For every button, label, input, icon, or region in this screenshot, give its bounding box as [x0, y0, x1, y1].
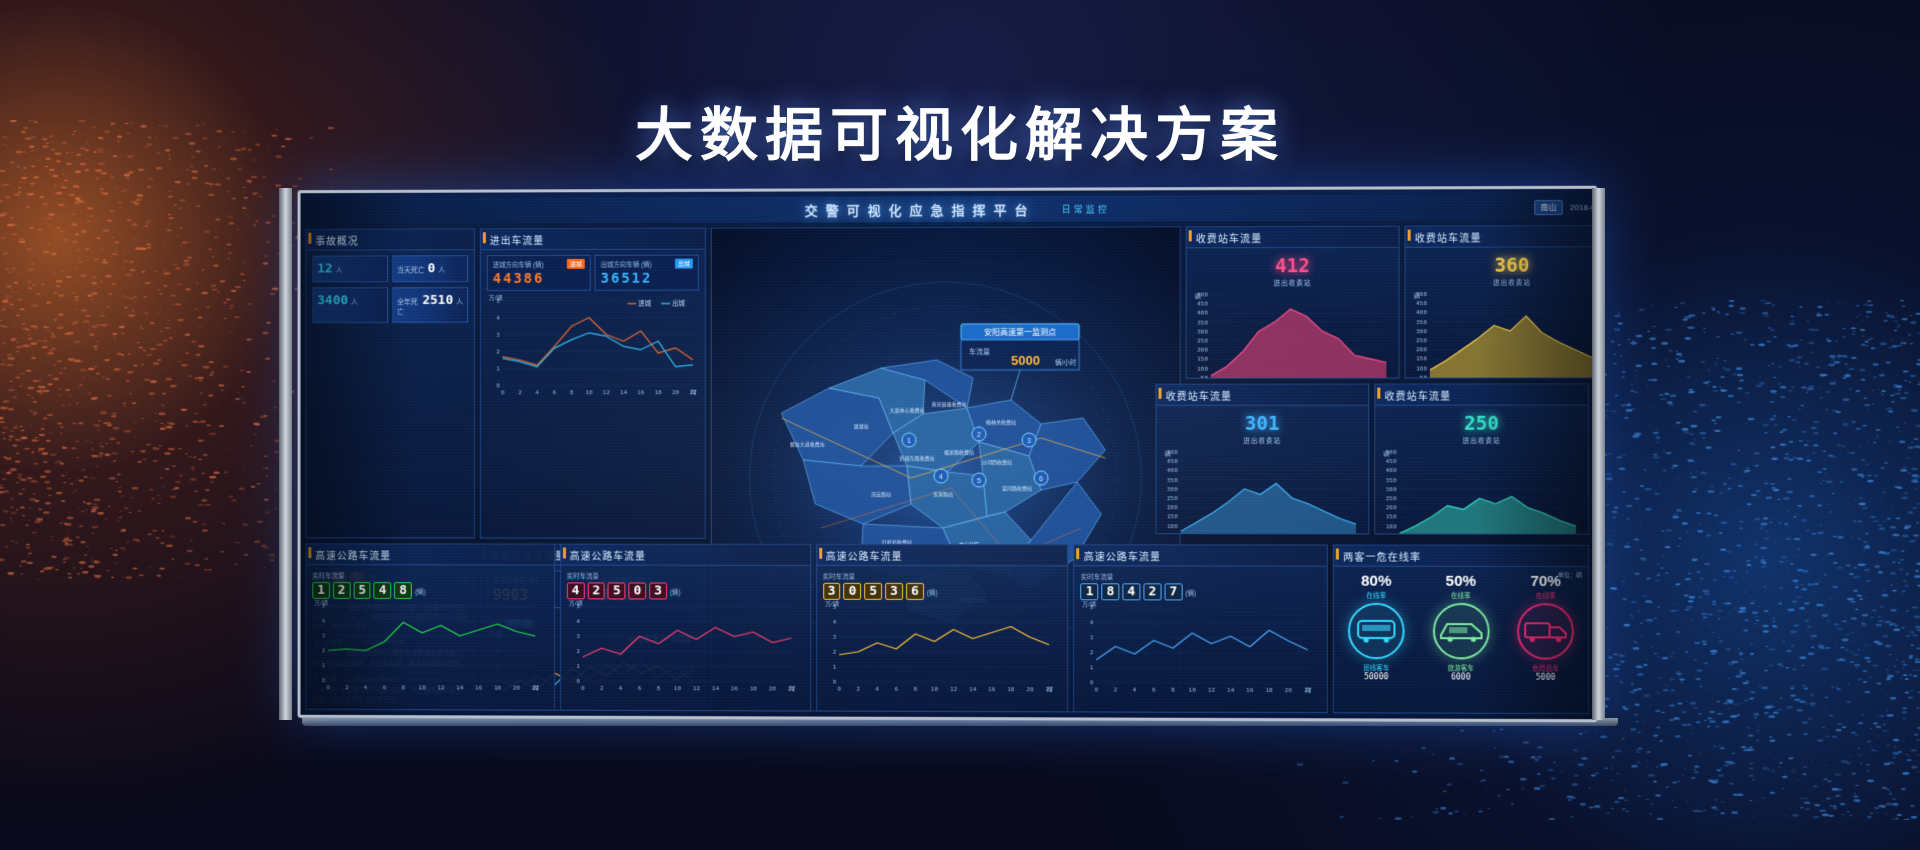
svg-text:4: 4 [496, 315, 500, 322]
svg-text:50: 50 [1201, 375, 1209, 379]
map-label: 南光高速收费站 [932, 401, 967, 408]
inout-kpi-label: 进城方向车辆 (辆) [493, 259, 544, 269]
svg-text:10: 10 [585, 389, 593, 396]
toll-value-2: 360 [1495, 255, 1530, 277]
svg-text:0: 0 [326, 684, 330, 691]
svg-text:进城: 进城 [638, 300, 651, 308]
accident-stat-list: 12 人 当天死亡 0 人 3400 人 全年死亡 2510 人 [306, 250, 474, 333]
accident-stat-row: 3400 人 全年死亡 2510 人 [312, 287, 468, 323]
panel-inout-flow: 进出车流量 进城方向车辆 (辆) 进城 44386出城方向车辆 (辆) 出城 3… [480, 228, 706, 539]
online-rate-qty-2: 6000 [1433, 672, 1490, 681]
panel-highway-flow-3: 高速公路车流量 实时车流量 30536 (辆) 012345万/辆0246810… [816, 544, 1069, 713]
svg-text:1: 1 [496, 365, 500, 372]
svg-text:350: 350 [1416, 319, 1427, 326]
map-callout-title: 安阳高速第一监测点 [984, 327, 1056, 337]
svg-text:50: 50 [1170, 532, 1178, 534]
highway-flow-digit: 3 [649, 583, 667, 600]
inout-kpi: 出城方向车辆 (辆) 出城 36512 [595, 255, 699, 291]
svg-text:2: 2 [518, 389, 522, 396]
highway-flow-digit: 2 [1143, 583, 1161, 600]
platform-title: 交警可视化应急指挥平台 [805, 199, 1036, 219]
svg-text:0: 0 [322, 677, 326, 684]
svg-text:万/辆: 万/辆 [569, 600, 583, 607]
highway-flow-digit: 1 [1081, 583, 1099, 600]
map-pin-number: 6 [1039, 476, 1043, 483]
svg-text:2: 2 [1090, 649, 1094, 656]
online-rate-percent-label-3: 在线率 [1517, 590, 1574, 600]
svg-text:450: 450 [1167, 458, 1178, 465]
svg-text:2: 2 [832, 649, 836, 656]
accident-stat-row: 12 人 当天死亡 0 人 [312, 255, 468, 282]
svg-text:时: 时 [1306, 686, 1312, 694]
inout-kpi-row: 进城方向车辆 (辆) 进城 44386出城方向车辆 (辆) 出城 36512 [487, 255, 699, 291]
inout-kpi-digit: 2 [642, 271, 650, 287]
accident-stat-sub-unit: 人 [456, 297, 463, 307]
online-rate-percent-2: 50% [1433, 573, 1490, 590]
svg-text:100: 100 [1386, 523, 1397, 530]
accident-stat-secondary: 全年死亡 2510 人 [392, 287, 468, 323]
svg-text:2: 2 [322, 647, 326, 654]
svg-text:12: 12 [693, 685, 701, 692]
panel-highway-flow-4: 高速公路车流量 实时车流量 18427 (辆) 012345万/辆0246810… [1074, 544, 1328, 713]
inout-kpi-digit: 6 [534, 271, 542, 287]
panel-accident-summary: 事故概况 12 人 当天死亡 0 人 3400 人 全年死亡 2510 人 [305, 228, 475, 538]
toll-header-1: 收费站车流量 [1187, 227, 1399, 249]
highway-flow-digit: 6 [906, 583, 924, 600]
highway-flow-header-3: 高速公路车流量 [817, 545, 1068, 566]
svg-text:6: 6 [553, 389, 557, 396]
highway-flow-digit: 0 [844, 583, 862, 600]
svg-text:1: 1 [1090, 664, 1094, 671]
online-rate-name-3: 危险品车 [1517, 663, 1574, 673]
svg-text:3: 3 [832, 634, 836, 641]
online-rate-qty-3: 5000 [1517, 673, 1574, 682]
panel-toll-3: 收费站车流量 301 进出收费站 500 450 400 350 300 250… [1156, 384, 1370, 535]
svg-text:18: 18 [494, 685, 502, 692]
panel-highway-flow-1: 高速公路车流量 实时车流量 12548 (辆) 012345万/辆0246810… [305, 543, 554, 710]
svg-text:0: 0 [496, 382, 500, 389]
svg-text:14: 14 [620, 389, 628, 396]
svg-text:150: 150 [1167, 514, 1178, 521]
toll-header-3: 收费站车流量 [1157, 385, 1369, 406]
map-label: 深云路站 [871, 491, 891, 498]
svg-text:150: 150 [1416, 356, 1427, 363]
svg-text:350: 350 [1167, 477, 1178, 484]
online-rate-qty-1: 50000 [1348, 672, 1405, 681]
online-rate-name-1: 班线客车 [1348, 662, 1405, 672]
svg-text:300: 300 [1386, 486, 1397, 493]
svg-text:时: 时 [789, 685, 795, 693]
online-rate-percent-label-2: 在线率 [1433, 590, 1490, 600]
online-rate-item-1[interactable]: 80% 在线率 班线客车 50000 [1348, 573, 1405, 682]
svg-text:4: 4 [1090, 619, 1094, 626]
svg-text:6: 6 [383, 684, 387, 691]
inout-kpi-digit: 4 [503, 271, 511, 287]
accident-stat-value: 3400 [317, 293, 348, 308]
accident-stat-sub-value: 0 [428, 261, 436, 276]
online-rate-item-3[interactable]: 70% 在线率 危险品车 5000 [1517, 573, 1574, 682]
svg-text:8: 8 [656, 685, 660, 692]
svg-text:辆: 辆 [1165, 450, 1171, 458]
highway-flow-unit-4: (辆) [1185, 587, 1196, 597]
online-rate-unit-note: 单位：辆 [1558, 570, 1582, 579]
svg-text:12: 12 [950, 686, 958, 693]
accident-stat-sub-unit: 人 [438, 265, 445, 275]
svg-text:450: 450 [1197, 301, 1208, 308]
svg-text:万/辆: 万/辆 [489, 295, 503, 302]
svg-text:14: 14 [1227, 687, 1235, 694]
svg-text:14: 14 [456, 685, 464, 692]
map-label: 侨城东路收费站 [900, 455, 935, 462]
coach-icon [1433, 603, 1490, 660]
svg-text:200: 200 [1167, 504, 1178, 511]
toll-chart-2: 500 450 400 350 300 250 200 150 100 50辆0… [1412, 290, 1598, 379]
highway-flow-chart-2: 012345万/辆0246810121416182022时 [567, 600, 797, 694]
panel-toll-4: 收费站车流量 250 进出收费站 500 450 400 350 300 250… [1374, 383, 1589, 534]
toll-chart-1: 500 450 400 350 300 250 200 150 100 50辆0… [1193, 290, 1391, 379]
highway-flow-digit: 4 [1122, 583, 1140, 600]
svg-text:4: 4 [832, 619, 836, 626]
svg-text:0: 0 [581, 685, 585, 692]
svg-text:10: 10 [419, 684, 427, 691]
svg-text:300: 300 [1167, 486, 1178, 493]
svg-text:2: 2 [600, 685, 604, 692]
svg-text:100: 100 [1167, 523, 1178, 530]
map-label: 银湖站 [854, 423, 869, 430]
svg-text:时: 时 [533, 684, 539, 692]
svg-text:0: 0 [837, 686, 841, 693]
svg-text:10: 10 [674, 685, 682, 692]
map-pin-number: 4 [939, 474, 943, 481]
svg-text:2: 2 [345, 684, 349, 691]
svg-text:出城: 出城 [672, 298, 685, 307]
map-label: 留仙大道收费站 [790, 441, 825, 448]
panel-online-rate: 两客一危在线率 单位：辆 80% 在线率 班线客车 50000 50% 在线率 … [1333, 544, 1589, 714]
svg-text:万/辆: 万/辆 [825, 601, 839, 608]
highway-flow-unit-2: (辆) [670, 586, 681, 596]
highway-flow-digit: 1 [312, 582, 330, 599]
svg-text:12: 12 [1208, 687, 1216, 694]
svg-text:辆: 辆 [1195, 292, 1201, 300]
svg-text:300: 300 [1197, 328, 1208, 335]
svg-text:250: 250 [1386, 495, 1397, 502]
inout-kpi-label: 出城方向车辆 (辆) [601, 259, 652, 269]
highway-flow-kpi-label-2: 实时车流量 [567, 570, 804, 580]
svg-text:14: 14 [712, 685, 720, 692]
toll-gauge-1: 412 进出收费站 [1193, 255, 1393, 288]
online-rate-header: 两客一危在线率 [1334, 545, 1588, 566]
svg-text:150: 150 [1197, 356, 1208, 363]
highway-flow-unit-1: (辆) [415, 586, 426, 596]
svg-text:2: 2 [576, 648, 580, 655]
highway-flow-digit: 3 [823, 583, 841, 600]
inout-kpi-digit: 6 [611, 271, 619, 287]
hazmat-truck-icon [1517, 603, 1574, 660]
svg-text:2: 2 [1114, 686, 1118, 693]
svg-text:200: 200 [1386, 504, 1397, 511]
svg-text:时: 时 [691, 388, 697, 396]
svg-text:16: 16 [1247, 687, 1255, 694]
svg-text:0: 0 [832, 679, 836, 686]
accident-stat-value: 12 [317, 262, 332, 277]
svg-text:16: 16 [637, 389, 645, 396]
inout-kpi: 进城方向车辆 (辆) 进城 44386 [487, 255, 591, 291]
highway-flow-digit: 4 [374, 582, 392, 599]
svg-text:6: 6 [638, 685, 642, 692]
highway-flow-header-1: 高速公路车流量 [306, 544, 553, 565]
svg-text:4: 4 [875, 686, 879, 693]
dashboard-header: 交警可视化应急指挥平台 日常监控 南山 2018-08-16 [305, 194, 1597, 224]
svg-text:3: 3 [496, 332, 500, 339]
map-pin-number: 2 [977, 432, 981, 439]
svg-text:50: 50 [1420, 374, 1428, 378]
toll-header-4: 收费站车流量 [1375, 384, 1588, 405]
inout-flow-header: 进出车流量 [481, 229, 705, 251]
screen-bezel-left [279, 188, 292, 720]
svg-text:250: 250 [1197, 338, 1208, 345]
svg-text:4: 4 [364, 684, 368, 691]
map-pin-number: 1 [907, 438, 911, 445]
svg-text:350: 350 [1386, 477, 1397, 484]
accident-stat-unit: 人 [336, 265, 343, 275]
svg-text:12: 12 [437, 684, 445, 691]
online-rate-item-2[interactable]: 50% 在线率 旅游客车 6000 [1433, 573, 1490, 682]
toll-caption-4: 进出收费站 [1463, 435, 1501, 445]
toll-caption-3: 进出收费站 [1243, 435, 1281, 445]
svg-text:辆: 辆 [1383, 450, 1389, 458]
map-pin-number: 5 [977, 478, 981, 485]
highway-flow-unit-3: (辆) [927, 586, 938, 596]
svg-text:18: 18 [655, 389, 663, 396]
svg-text:时: 时 [1047, 685, 1053, 693]
svg-text:400: 400 [1416, 309, 1427, 316]
highway-flow-digit: 5 [608, 582, 626, 599]
svg-text:300: 300 [1416, 328, 1427, 335]
svg-text:100: 100 [1416, 365, 1427, 372]
svg-text:20: 20 [769, 685, 777, 692]
highway-flow-digit: 8 [1101, 583, 1119, 600]
svg-text:0: 0 [501, 389, 505, 396]
header-right: 南山 2018-08-16 [1534, 199, 1597, 214]
inout-flow-chart: 012345万/辆0246810121416182022时进城出城 [487, 295, 699, 399]
panel-highway-flow-2: 高速公路车流量 实时车流量 42503 (辆) 012345万/辆0246810… [560, 544, 811, 712]
map-label: 梅林关收费站 [986, 419, 1016, 426]
highway-flow-kpi-label-4: 实时车流量 [1081, 571, 1321, 581]
svg-text:16: 16 [731, 685, 739, 692]
svg-text:2: 2 [496, 349, 500, 356]
highway-flow-digit: 5 [353, 582, 371, 599]
svg-text:18: 18 [750, 685, 758, 692]
map-callout-unit: 辆/小时 [1055, 358, 1077, 367]
svg-text:8: 8 [402, 684, 406, 691]
highway-flow-header-4: 高速公路车流量 [1075, 545, 1327, 566]
svg-text:150: 150 [1386, 514, 1397, 521]
inout-kpi-digit: 4 [493, 271, 501, 287]
region-chip[interactable]: 南山 [1534, 199, 1562, 214]
highway-flow-digit: 7 [1164, 583, 1182, 600]
accident-stat-sub-value: 2510 [422, 293, 453, 308]
toll-value-4: 250 [1464, 413, 1499, 435]
svg-text:10: 10 [930, 686, 938, 693]
svg-text:100: 100 [1197, 365, 1208, 372]
svg-text:400: 400 [1197, 310, 1208, 317]
svg-text:16: 16 [475, 685, 483, 692]
svg-text:450: 450 [1386, 458, 1397, 465]
toll-value-1: 412 [1275, 255, 1310, 277]
svg-text:0: 0 [576, 678, 580, 685]
toll-value-3: 301 [1245, 413, 1280, 435]
highway-flow-digit: 2 [587, 582, 605, 599]
highway-flow-chart-1: 012345万/辆0246810121416182022时 [312, 600, 541, 694]
video-wall: 交警可视化应急指挥平台 日常监控 南山 2018-08-16 事故概况 12 人… [292, 188, 1592, 720]
highway-flow-digit: 3 [885, 583, 903, 600]
panel-toll-2: 收费站车流量 360 进出收费站 500 450 400 350 300 250… [1405, 225, 1598, 379]
inout-kpi-digit: 3 [513, 271, 521, 287]
inout-flow-line-chart: 012345万/辆0246810121416182022时进城出城 [487, 295, 699, 399]
map-label: 福龙路收费站 [944, 449, 974, 456]
svg-text:8: 8 [1172, 687, 1176, 694]
svg-text:6: 6 [894, 686, 898, 693]
svg-text:3: 3 [1090, 634, 1094, 641]
toll-caption-1: 进出收费站 [1274, 277, 1312, 287]
toll-gauge-2: 360 进出收费站 [1412, 254, 1598, 287]
online-rate-percent-1: 80% [1348, 573, 1405, 590]
toll-gauge-4: 250 进出收费站 [1381, 413, 1582, 445]
svg-text:1: 1 [322, 662, 326, 669]
svg-text:辆: 辆 [1414, 292, 1420, 300]
accident-stat-primary: 12 人 [312, 255, 388, 282]
page-title: 大数据可视化解决方案 [0, 88, 1920, 172]
inout-kpi-digit: 5 [621, 271, 629, 287]
svg-text:20: 20 [1285, 687, 1293, 694]
svg-text:0: 0 [1090, 679, 1094, 686]
svg-text:14: 14 [969, 686, 977, 693]
highway-flow-chart-3: 012345万/辆0246810121416182022时 [823, 601, 1055, 696]
highway-flow-digit: 0 [629, 582, 647, 599]
svg-text:4: 4 [1133, 687, 1137, 694]
screen-bezel-right [1592, 188, 1605, 720]
inout-kpi-digit: 8 [524, 271, 532, 287]
svg-text:4: 4 [619, 685, 623, 692]
svg-text:400: 400 [1167, 467, 1178, 474]
toll-chart-3: 500 450 400 350 300 250 200 150 100 50辆0… [1163, 448, 1361, 534]
svg-text:20: 20 [672, 389, 680, 396]
svg-text:0: 0 [1095, 686, 1099, 693]
svg-text:350: 350 [1197, 319, 1208, 326]
svg-text:1: 1 [832, 664, 836, 671]
map-label: 玉泉路站 [933, 491, 953, 498]
svg-text:4: 4 [535, 389, 539, 396]
svg-text:20: 20 [513, 685, 521, 692]
svg-text:万/辆: 万/辆 [314, 600, 327, 607]
highway-flow-chart-4: 012345万/辆0246810121416182022时 [1081, 601, 1314, 696]
highway-flow-kpi-label-1: 实时车流量 [312, 570, 548, 580]
svg-text:万/辆: 万/辆 [1083, 601, 1097, 608]
svg-text:2: 2 [856, 686, 860, 693]
toll-gauge-3: 301 进出收费站 [1163, 413, 1363, 445]
svg-text:12: 12 [603, 389, 611, 396]
svg-text:3: 3 [576, 633, 580, 640]
map-callout-row-label: 车流量 [969, 347, 990, 356]
highway-flow-kpi-label-3: 实时车流量 [823, 571, 1062, 581]
svg-text:200: 200 [1197, 347, 1208, 354]
svg-text:8: 8 [913, 686, 917, 693]
svg-text:16: 16 [988, 686, 996, 693]
map-callout-value: 5000 [1011, 353, 1040, 368]
svg-text:250: 250 [1416, 337, 1427, 344]
svg-text:4: 4 [576, 618, 580, 625]
toll-caption-2: 进出收费站 [1493, 277, 1531, 287]
svg-text:50: 50 [1389, 532, 1397, 534]
svg-text:4: 4 [322, 618, 326, 625]
map-label: 大浪中心收费站 [890, 407, 925, 414]
svg-text:400: 400 [1386, 467, 1397, 474]
accident-stat-unit: 人 [351, 297, 358, 307]
highway-flow-digit: 8 [394, 582, 412, 599]
toll-chart-4: 500 450 400 350 300 250 200 150 100 50辆0… [1381, 448, 1580, 535]
map-pin-number: 3 [1027, 438, 1031, 445]
online-rate-percent-label-1: 在线率 [1348, 590, 1405, 600]
svg-text:6: 6 [1152, 687, 1156, 694]
platform-subtitle: 日常监控 [1062, 202, 1110, 215]
bottom-panel-row: 高速公路车流量 实时车流量 12548 (辆) 012345万/辆0246810… [305, 543, 1589, 714]
svg-text:8: 8 [570, 389, 574, 396]
map-label: 皇岗路收费站 [1002, 485, 1032, 492]
toll-header-2: 收费站车流量 [1406, 226, 1598, 248]
inout-kpi-tag: 出城 [675, 259, 693, 269]
map-label: 沙河西收费站 [982, 459, 1012, 466]
panel-toll-1: 收费站车流量 412 进出收费站 500 450 400 350 300 250… [1186, 226, 1400, 379]
svg-text:20: 20 [1026, 686, 1034, 693]
svg-text:18: 18 [1266, 687, 1274, 694]
online-rate-name-2: 旅游客车 [1433, 662, 1490, 672]
svg-text:3: 3 [322, 633, 326, 640]
bus-icon [1348, 603, 1405, 659]
accident-stat-label: 当天死亡 [397, 265, 425, 275]
svg-text:1: 1 [576, 663, 580, 670]
highway-flow-digit: 5 [864, 583, 882, 600]
svg-text:18: 18 [1007, 686, 1015, 693]
accident-stat-secondary: 当天死亡 0 人 [392, 255, 468, 282]
highway-flow-header-2: 高速公路车流量 [561, 545, 810, 566]
highway-flow-digit: 2 [333, 582, 351, 599]
svg-text:10: 10 [1189, 687, 1197, 694]
highway-flow-digit: 4 [567, 582, 585, 599]
inout-kpi-digit: 1 [632, 271, 640, 287]
accident-stat-primary: 3400 人 [312, 287, 388, 323]
inout-kpi-tag: 进城 [567, 259, 585, 269]
svg-text:200: 200 [1416, 347, 1427, 354]
accident-stat-label: 全年死亡 [397, 297, 419, 317]
inout-kpi-digit: 3 [601, 271, 609, 287]
accident-summary-header: 事故概况 [306, 229, 474, 250]
svg-text:250: 250 [1167, 495, 1178, 502]
svg-text:450: 450 [1416, 300, 1427, 307]
